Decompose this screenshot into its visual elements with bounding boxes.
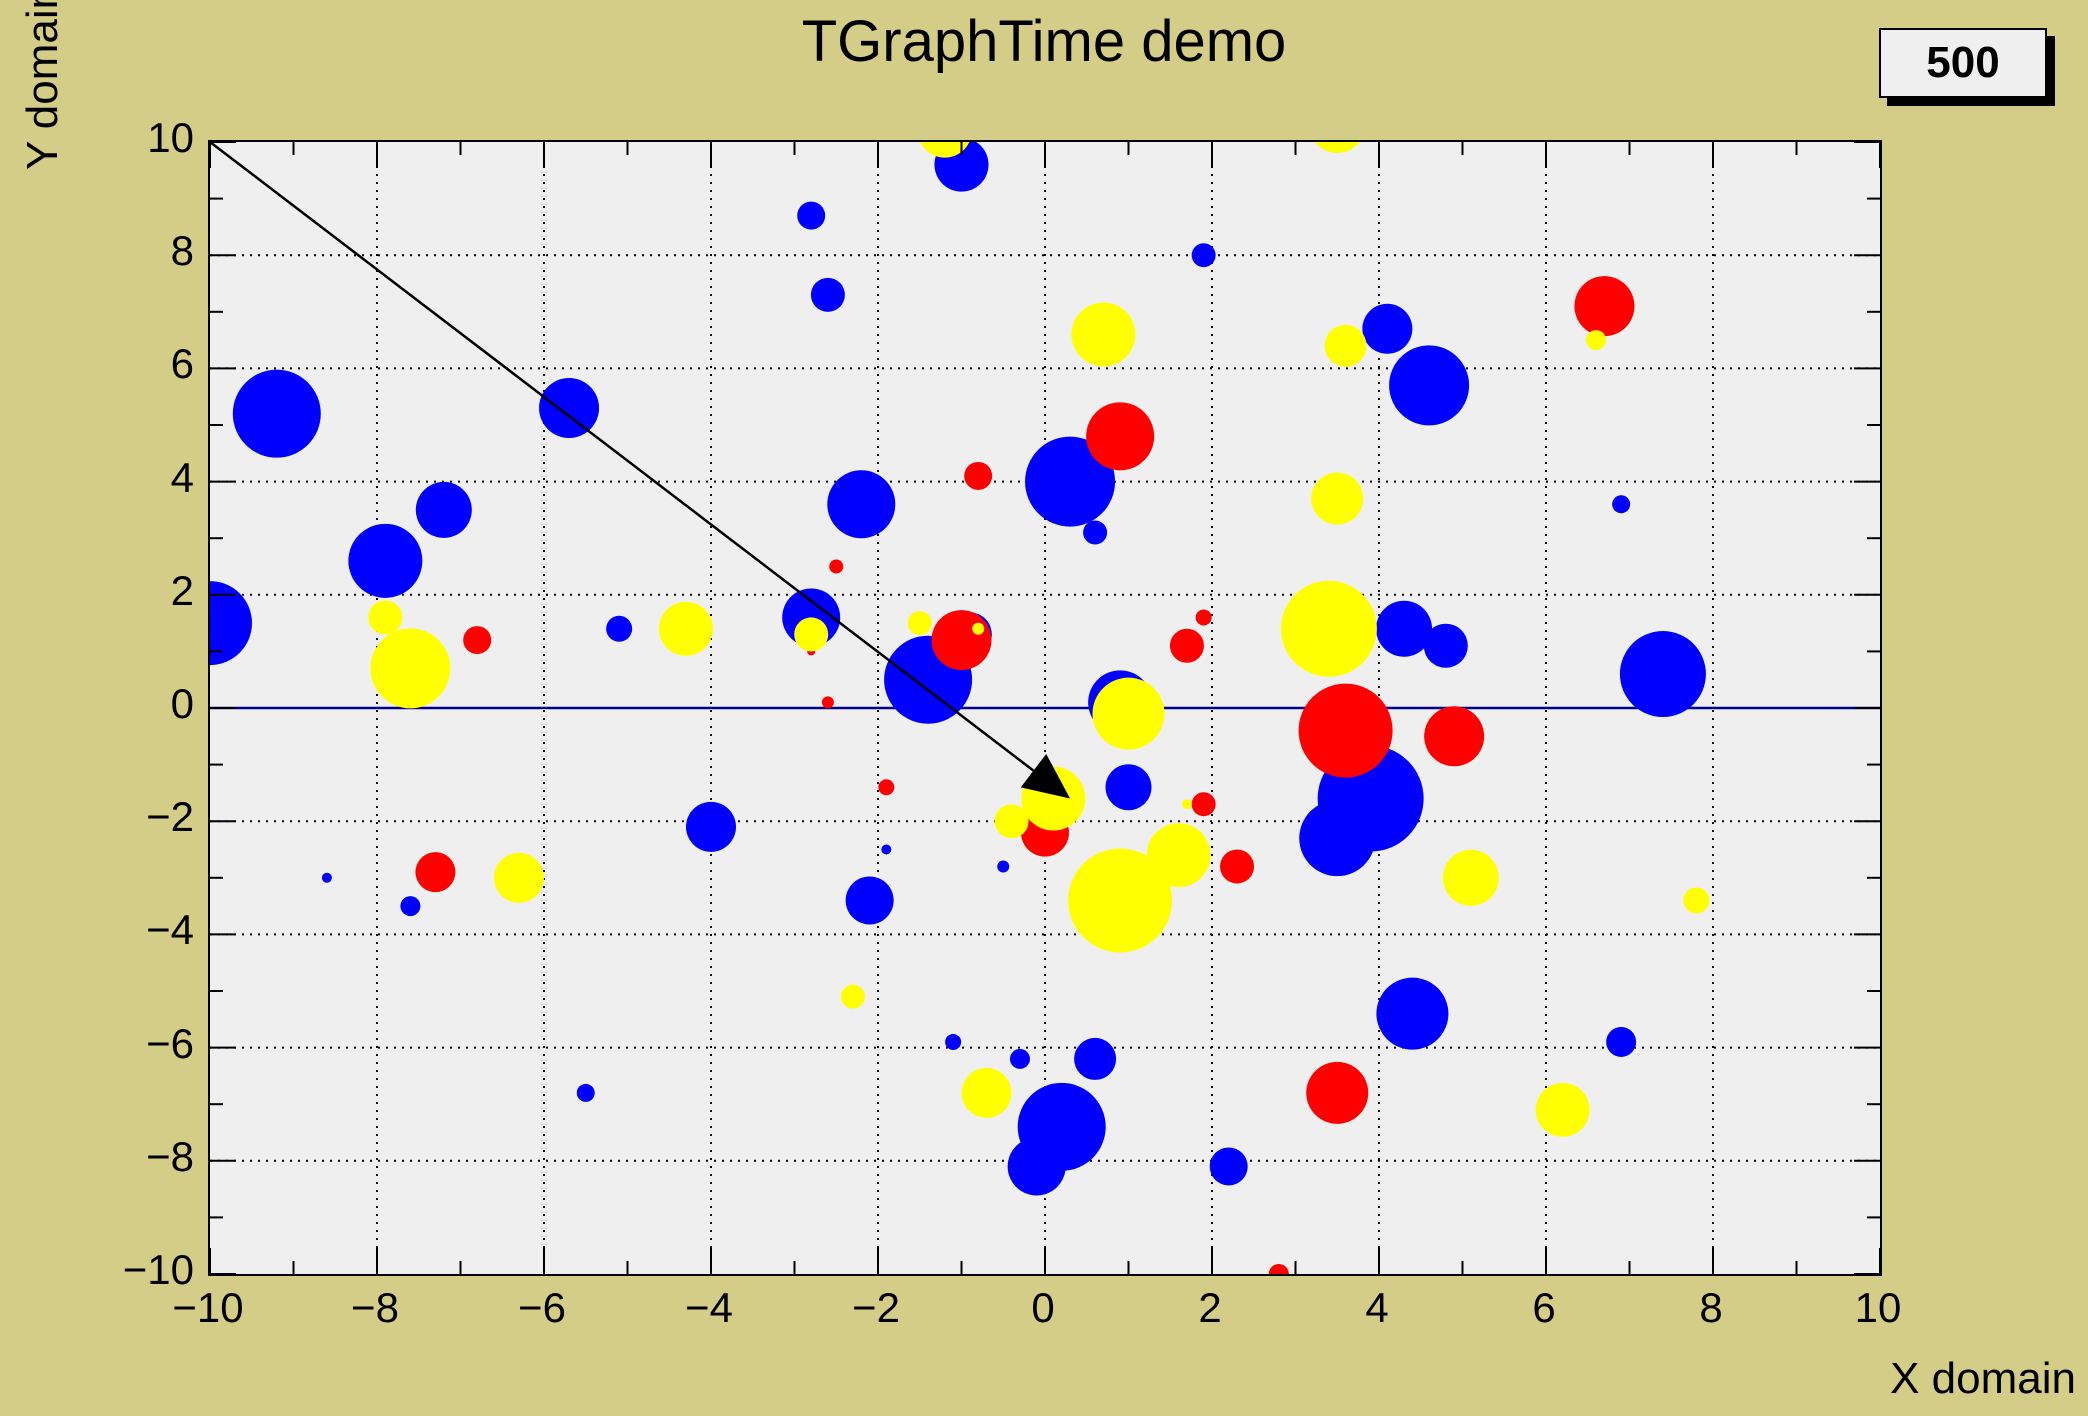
scatter-marker-blue	[1210, 1147, 1248, 1185]
y-tick-label: −6	[146, 1020, 194, 1068]
scatter-marker-red	[463, 626, 491, 654]
y-tick-label: 10	[147, 114, 194, 162]
scatter-marker-blue	[997, 860, 1009, 872]
arrow-shaft	[210, 142, 1033, 771]
scatter-marker-yellow	[1147, 823, 1211, 887]
scatter-marker-blue	[1106, 764, 1152, 810]
scatter-marker-yellow	[494, 853, 544, 903]
plot-frame	[208, 140, 1882, 1276]
scatter-marker-yellow	[1311, 473, 1363, 525]
scatter-marker-yellow	[1309, 142, 1365, 153]
scatter-marker-blue	[846, 876, 894, 924]
scatter-marker-red	[1196, 609, 1212, 625]
scatter-marker-yellow	[368, 600, 402, 634]
scatter-plot	[210, 142, 1880, 1274]
scatter-marker-yellow	[1683, 887, 1709, 913]
scatter-marker-blue	[1074, 1038, 1116, 1080]
scatter-marker-blue	[1620, 631, 1706, 717]
scatter-marker-blue	[1192, 243, 1216, 267]
page-title: TGraphTime demo	[0, 8, 2088, 75]
scatter-marker-blue	[233, 370, 321, 458]
scatter-marker-blue	[1376, 978, 1448, 1050]
scatter-marker-yellow	[1182, 799, 1192, 809]
y-tick-label: −4	[146, 906, 194, 954]
scatter-marker-yellow	[659, 602, 713, 656]
scatter-marker-blue	[797, 202, 825, 230]
scatter-marker-red	[964, 462, 992, 490]
x-tick-label: −2	[816, 1284, 936, 1332]
x-tick-label: −6	[482, 1284, 602, 1332]
scatter-marker-red	[1299, 684, 1393, 778]
counter-value: 500	[1881, 38, 2045, 88]
scatter-marker-yellow	[1325, 325, 1367, 367]
scatter-marker-blue	[1010, 1049, 1030, 1069]
x-tick-label: 6	[1484, 1284, 1604, 1332]
x-tick-label: −4	[649, 1284, 769, 1332]
y-tick-label: 0	[171, 680, 194, 728]
scatter-marker-red	[932, 610, 992, 670]
x-tick-label: 4	[1317, 1284, 1437, 1332]
scatter-marker-yellow	[962, 1068, 1012, 1118]
y-tick-label: 2	[171, 567, 194, 615]
y-tick-label: 6	[171, 340, 194, 388]
x-tick-label: 8	[1651, 1284, 1771, 1332]
scatter-marker-red	[1574, 276, 1634, 336]
x-tick-label: −8	[315, 1284, 435, 1332]
scatter-marker-red	[1306, 1062, 1368, 1124]
scatter-marker-blue	[881, 845, 891, 855]
scatter-marker-red	[829, 560, 843, 574]
y-tick-label: −2	[146, 793, 194, 841]
scatter-marker-blue	[1612, 495, 1630, 513]
scatter-marker-yellow	[1093, 678, 1165, 750]
scatter-marker-blue	[1083, 521, 1107, 545]
y-tick-label: 8	[171, 227, 194, 275]
scatter-marker-blue	[606, 616, 632, 642]
y-axis-title: Y domain	[18, 0, 68, 170]
scatter-marker-yellow	[1586, 330, 1606, 350]
scatter-marker-blue	[322, 873, 332, 883]
scatter-marker-red	[1424, 706, 1484, 766]
x-tick-label: −10	[148, 1284, 268, 1332]
root-canvas: TGraphTime demo 500 −10−8−6−4−20246810 −…	[0, 0, 2088, 1416]
scatter-marker-yellow	[908, 611, 932, 635]
scatter-marker-red	[822, 696, 834, 708]
scatter-marker-blue	[1008, 1137, 1066, 1195]
scatter-marker-red	[1269, 1264, 1289, 1274]
scatter-marker-blue	[686, 802, 736, 852]
scatter-marker-blue	[539, 378, 599, 438]
scatter-marker-yellow	[794, 617, 828, 651]
x-tick-label: 0	[983, 1284, 1103, 1332]
scatter-marker-blue	[416, 482, 472, 538]
scatter-marker-blue	[811, 278, 845, 312]
scatter-marker-blue	[577, 1084, 595, 1102]
scatter-marker-yellow	[370, 628, 450, 708]
scatter-marker-yellow	[1443, 850, 1499, 906]
scatter-marker-yellow	[995, 804, 1029, 838]
scatter-marker-blue	[827, 470, 895, 538]
scatter-marker-red	[878, 779, 894, 795]
scatter-marker-yellow	[972, 623, 984, 635]
x-tick-label: 2	[1150, 1284, 1270, 1332]
scatter-marker-blue	[1606, 1027, 1636, 1057]
y-tick-label: −8	[146, 1133, 194, 1181]
scatter-marker-red	[415, 852, 455, 892]
scatter-marker-blue	[1424, 624, 1468, 668]
scatter-marker-red	[1170, 629, 1204, 663]
scatter-marker-blue	[210, 581, 252, 665]
scatter-marker-blue	[348, 524, 422, 598]
scatter-marker-blue	[1362, 304, 1412, 354]
scatter-marker-red	[1220, 849, 1254, 883]
scatter-marker-blue	[1389, 345, 1469, 425]
scatter-marker-yellow	[1071, 302, 1135, 366]
scatter-marker-blue	[400, 896, 420, 916]
y-tick-label: 4	[171, 454, 194, 502]
scatter-marker-blue	[945, 1034, 961, 1050]
scatter-marker-red	[1192, 792, 1216, 816]
x-axis-title: X domain	[1890, 1354, 2076, 1404]
counter-box: 500	[1879, 28, 2047, 98]
scatter-marker-yellow	[1536, 1083, 1590, 1137]
x-tick-label: 10	[1818, 1284, 1938, 1332]
scatter-marker-blue	[1299, 800, 1375, 876]
arrow-annotation	[210, 142, 1070, 799]
scatter-marker-blue	[1376, 601, 1432, 657]
scatter-marker-red	[1086, 402, 1154, 470]
scatter-marker-yellow	[841, 985, 865, 1009]
scatter-marker-yellow	[1281, 581, 1377, 677]
